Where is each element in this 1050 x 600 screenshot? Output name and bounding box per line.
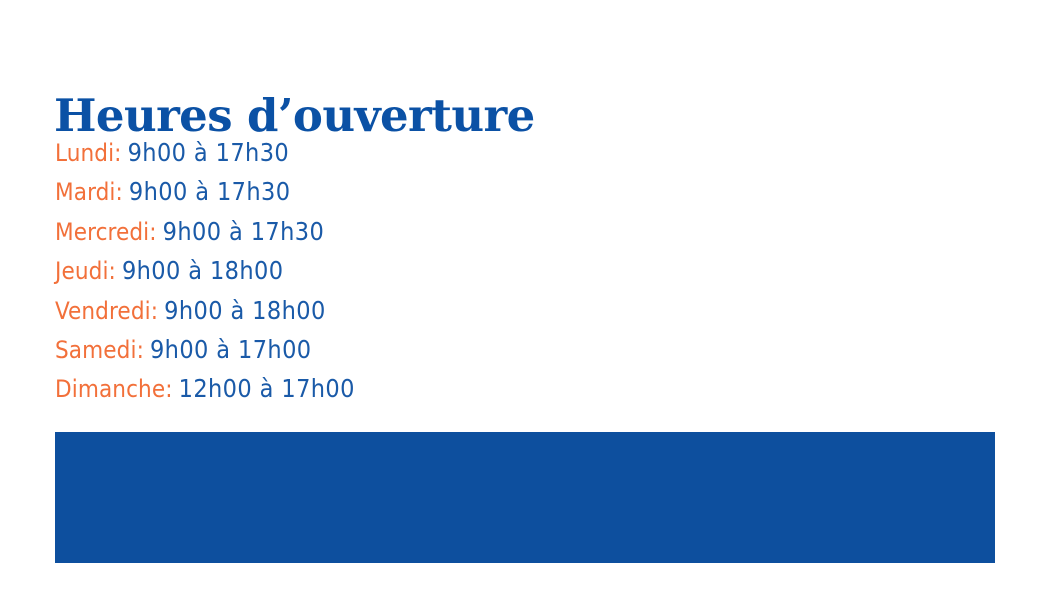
time-range: 9h00 à 17h30 (128, 138, 290, 167)
list-item: Vendredi:9h00 à 18h00 (55, 291, 755, 330)
day-label: Mercredi: (55, 218, 157, 246)
time-range: 12h00 à 17h00 (179, 374, 355, 403)
opening-hours-list: Lundi:9h00 à 17h30 Mardi:9h00 à 17h30 Me… (55, 133, 755, 409)
time-range: 9h00 à 18h00 (164, 296, 326, 325)
day-label: Lundi: (55, 139, 122, 167)
time-range: 9h00 à 17h00 (150, 335, 312, 364)
day-label: Vendredi: (55, 297, 158, 325)
day-label: Jeudi: (55, 257, 116, 285)
blue-content-block (55, 432, 995, 563)
day-label: Mardi: (55, 178, 123, 206)
list-item: Mercredi:9h00 à 17h30 (55, 212, 755, 251)
day-label: Samedi: (55, 336, 144, 364)
time-range: 9h00 à 17h30 (163, 217, 325, 246)
list-item: Dimanche:12h00 à 17h00 (55, 369, 755, 408)
slide-canvas: Heures d’ouverture Lundi:9h00 à 17h30 Ma… (0, 0, 1050, 600)
time-range: 9h00 à 18h00 (122, 256, 284, 285)
list-item: Jeudi:9h00 à 18h00 (55, 251, 755, 290)
list-item: Lundi:9h00 à 17h30 (55, 133, 755, 172)
day-label: Dimanche: (55, 375, 173, 403)
time-range: 9h00 à 17h30 (129, 177, 291, 206)
list-item: Samedi:9h00 à 17h00 (55, 330, 755, 369)
list-item: Mardi:9h00 à 17h30 (55, 172, 755, 211)
